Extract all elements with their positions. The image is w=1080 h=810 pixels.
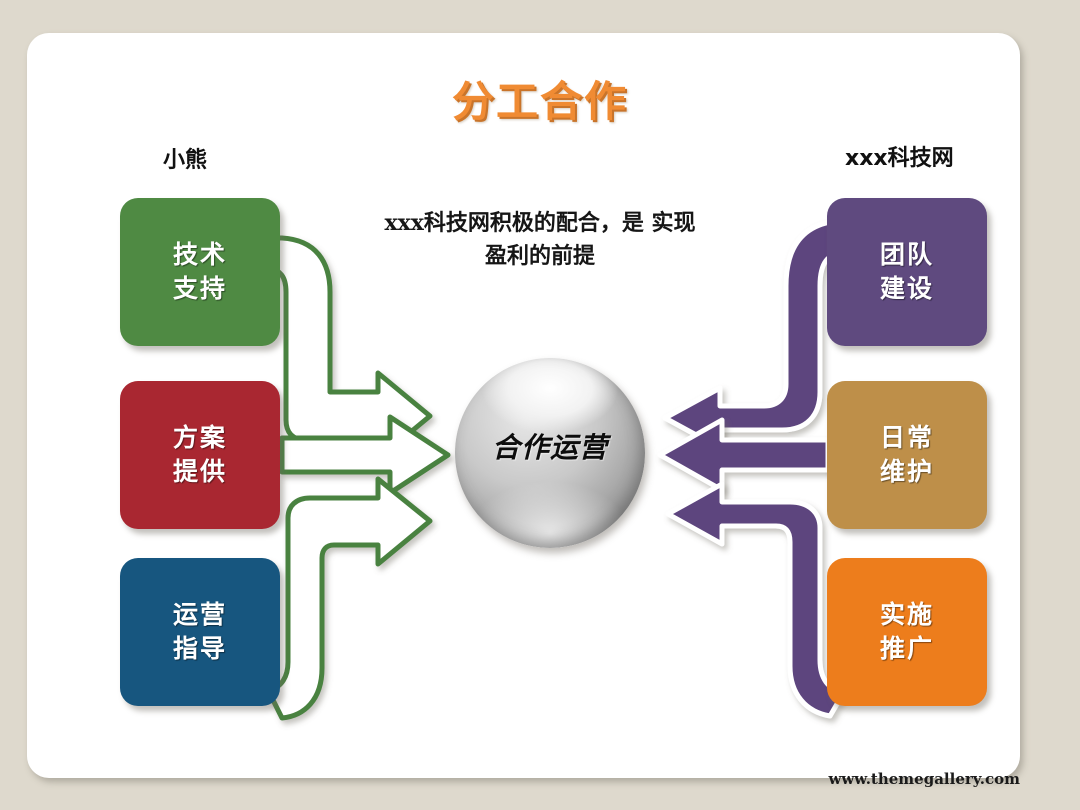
box-left-3-label: 运营 指导 (173, 598, 227, 666)
center-node[interactable]: 合作运营 (455, 358, 645, 548)
footer-url: www.themegallery.com (828, 770, 1020, 788)
box-left-1-label: 技术 支持 (173, 238, 227, 306)
right-column-header: xxx科技网 (845, 140, 954, 172)
box-right-2[interactable]: 日常 维护 (827, 381, 987, 529)
left-column-header: 小熊 (163, 142, 207, 174)
box-right-2-label: 日常 维护 (880, 421, 934, 489)
slide-canvas: 分工合作 小熊 xxx科技网 xxx科技网积极的配合，是 实现盈利的前提 (0, 0, 1080, 810)
box-right-1-label: 团队 建设 (880, 238, 934, 306)
box-right-1[interactable]: 团队 建设 (827, 198, 987, 346)
center-caption: xxx科技网积极的配合，是 实现盈利的前提 (375, 207, 705, 273)
box-left-1[interactable]: 技术 支持 (120, 198, 280, 346)
page-title: 分工合作 (0, 68, 1080, 129)
box-left-2-label: 方案 提供 (173, 421, 227, 489)
box-right-3[interactable]: 实施 推广 (827, 558, 987, 706)
box-right-3-label: 实施 推广 (880, 598, 934, 666)
box-left-3[interactable]: 运营 指导 (120, 558, 280, 706)
center-node-label: 合作运营 (455, 426, 645, 466)
box-left-2[interactable]: 方案 提供 (120, 381, 280, 529)
